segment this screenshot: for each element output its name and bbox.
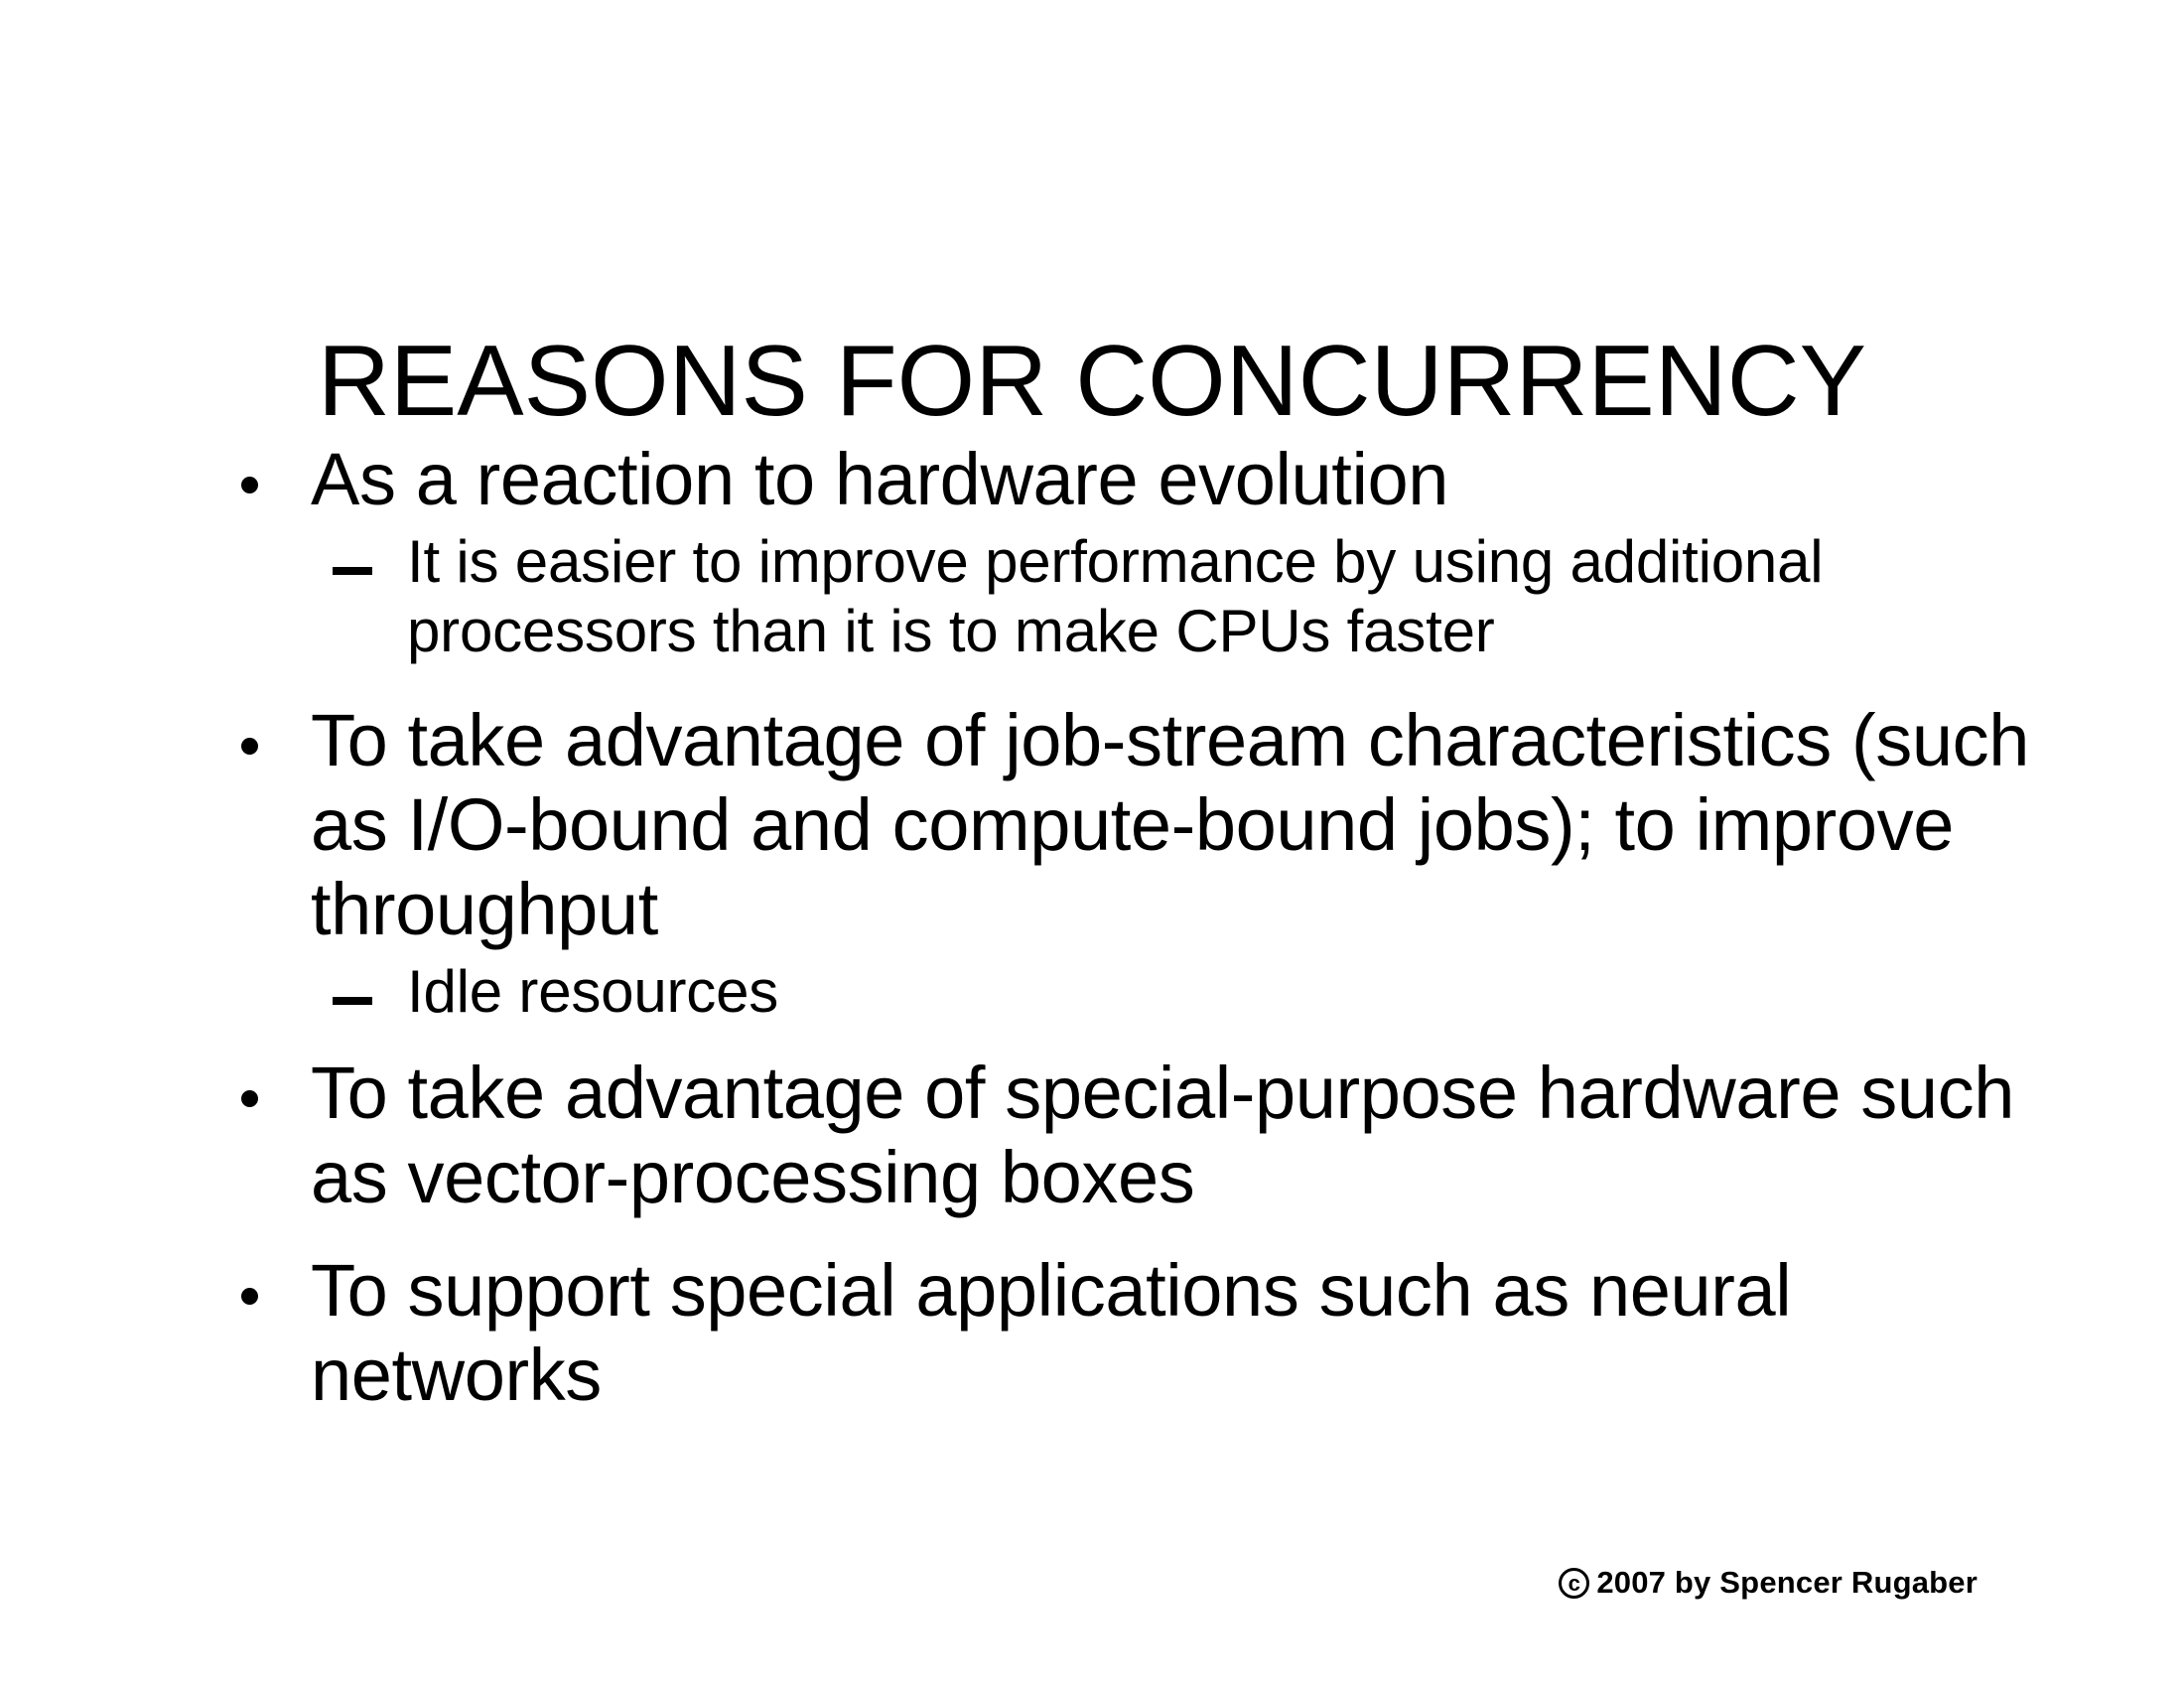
block-spacer <box>223 1033 2040 1051</box>
bullet-dot-icon <box>236 1051 276 1135</box>
bullet-dot-icon <box>236 437 276 521</box>
bullet-item-level2: Idle resources <box>223 957 2040 1027</box>
bullet-item-level2: It is easier to improve performance by u… <box>223 527 2040 666</box>
copyright-icon: c <box>1559 1568 1589 1599</box>
dash-bullet-icon <box>333 957 392 1027</box>
bullet-item-level1: To support special applications such as … <box>223 1248 2040 1417</box>
bullet-dot-icon <box>236 1248 276 1333</box>
bullet-item-level1: As a reaction to hardware evolution <box>223 437 2040 521</box>
bullet-item-level1: To take advantage of special-purpose har… <box>223 1051 2040 1219</box>
copyright-text: 2007 by Spencer Rugaber <box>1596 1565 1978 1601</box>
dash-bullet-icon <box>333 527 392 597</box>
bullet-text: To take advantage of special-purpose har… <box>311 1051 2040 1219</box>
block-spacer <box>223 1222 2040 1248</box>
bullet-text: To support special applications such as … <box>311 1248 2040 1417</box>
bullet-text: As a reaction to hardware evolution <box>311 437 2040 521</box>
bullet-text: It is easier to improve performance by u… <box>407 527 2040 666</box>
bullet-item-level1: To take advantage of job-stream characte… <box>223 698 2040 951</box>
copyright-icon-letter: c <box>1562 1571 1586 1596</box>
bullet-text: Idle resources <box>407 957 2040 1027</box>
presentation-slide: REASONS FOR CONCURRENCY As a reaction to… <box>0 0 2184 1688</box>
slide-body: As a reaction to hardware evolution It i… <box>223 437 2040 1420</box>
block-spacer <box>223 672 2040 698</box>
bullet-text: To take advantage of job-stream characte… <box>311 698 2040 951</box>
slide-title: REASONS FOR CONCURRENCY <box>0 328 2184 436</box>
bullet-dot-icon <box>236 698 276 782</box>
copyright-footer: c 2007 by Spencer Rugaber <box>1559 1565 1978 1601</box>
